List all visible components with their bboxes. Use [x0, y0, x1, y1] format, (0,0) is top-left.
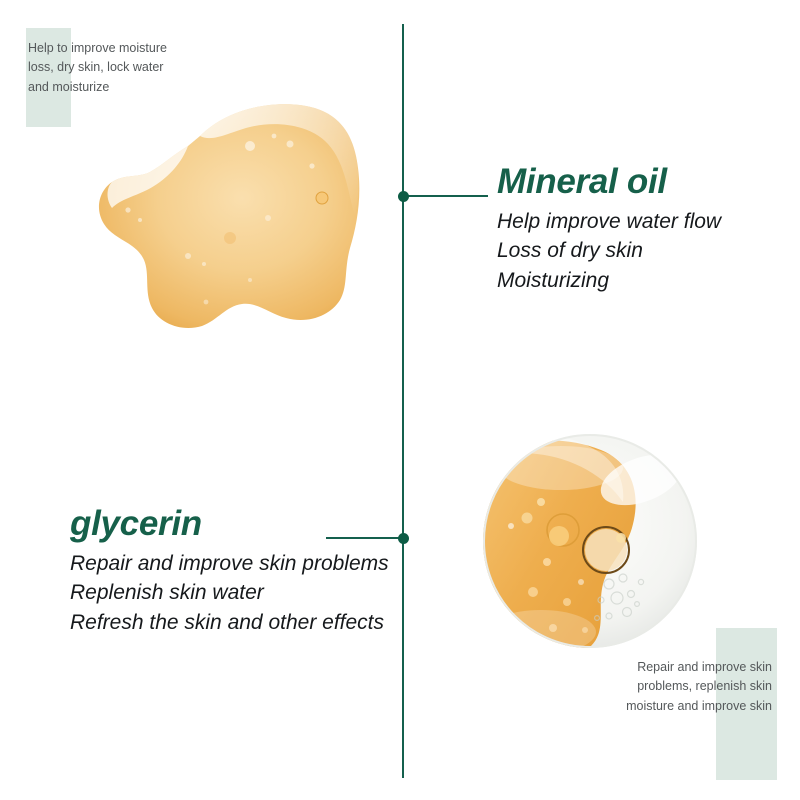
feature-item: Loss of dry skin	[497, 236, 721, 266]
connector-line-mineral-oil	[403, 195, 488, 197]
feature-list-mineral-oil: Help improve water flow Loss of dry skin…	[497, 207, 721, 296]
infographic-canvas: Help to improve moisture loss, dry skin,…	[0, 0, 800, 800]
gel-serum-drop-image	[481, 432, 699, 650]
honey-oil-smear-image	[78, 98, 374, 336]
feature-item: Repair and improve skin problems	[70, 549, 389, 579]
heading-glycerin: glycerin	[70, 505, 389, 544]
feature-item: Replenish skin water	[70, 578, 389, 608]
feature-block-glycerin: glycerin Repair and improve skin problem…	[70, 505, 389, 638]
feature-list-glycerin: Repair and improve skin problems Repleni…	[70, 549, 389, 638]
feature-item: Moisturizing	[497, 266, 721, 296]
feature-item: Refresh the skin and other effects	[70, 608, 389, 638]
caption-top-left: Help to improve moisture loss, dry skin,…	[28, 39, 178, 97]
connector-dot-mineral-oil	[398, 191, 409, 202]
caption-bottom-right: Repair and improve skin problems, replen…	[610, 658, 772, 716]
heading-mineral-oil: Mineral oil	[497, 163, 721, 202]
feature-block-mineral-oil: Mineral oil Help improve water flow Loss…	[497, 163, 721, 296]
feature-item: Help improve water flow	[497, 207, 721, 237]
vertical-connector-line	[402, 24, 404, 778]
connector-dot-glycerin	[398, 533, 409, 544]
